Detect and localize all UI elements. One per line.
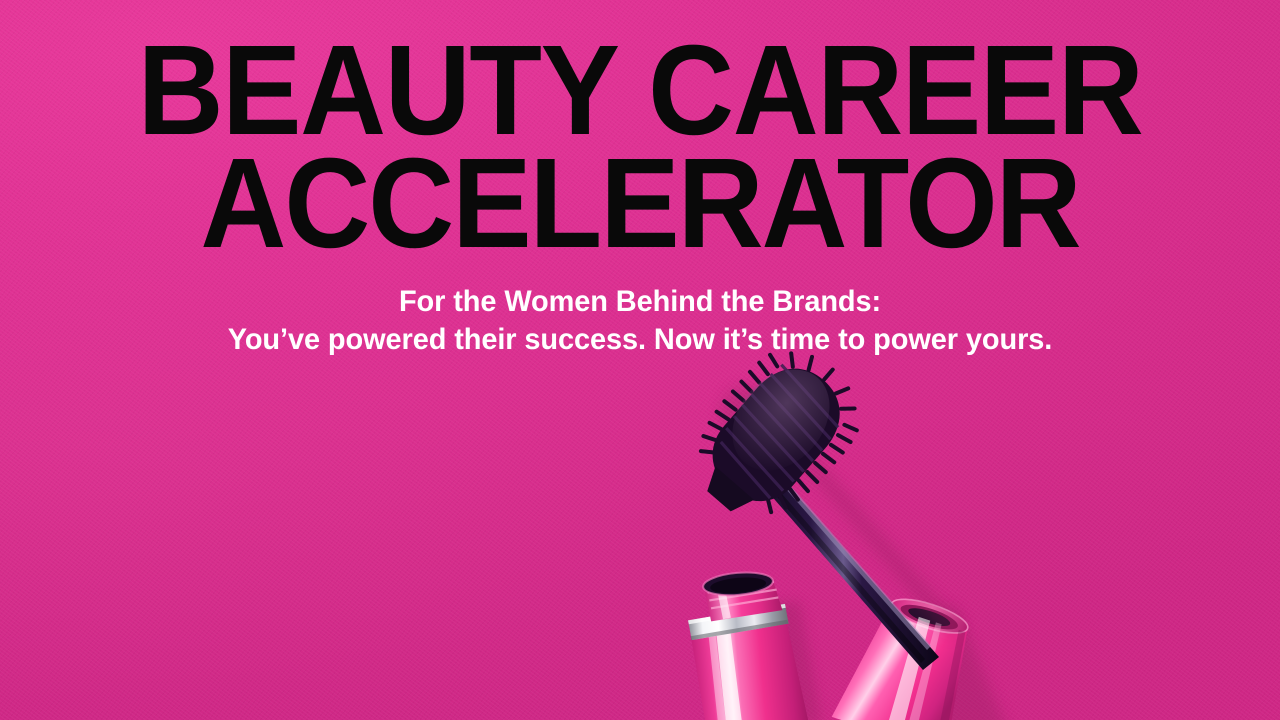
headline-line-1: BEAUTY CAREER (45, 34, 1235, 147)
mascara-wand (717, 376, 1017, 706)
subtitle-line-1: For the Women Behind the Brands: (22, 283, 1257, 321)
headline-line-2: ACCELERATOR (45, 147, 1235, 260)
subtitle-block: For the Women Behind the Brands: You’ve … (22, 283, 1257, 360)
subtitle-line-2: You’ve powered their success. Now it’s t… (22, 321, 1257, 359)
headline-block: BEAUTY CAREER ACCELERATOR For the Women … (0, 34, 1280, 359)
promo-slide: BEAUTY CAREER ACCELERATOR For the Women … (0, 0, 1280, 720)
